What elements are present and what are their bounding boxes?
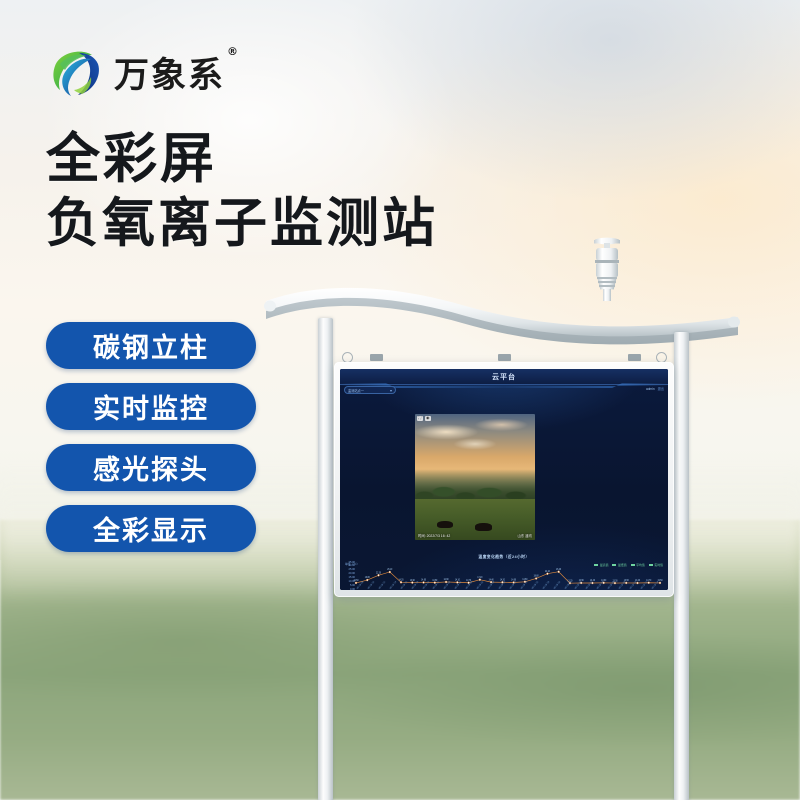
svg-text:14.20: 14.20	[399, 579, 405, 581]
monitoring-station-unit: 云平台 监测站点一 ▾ admin 退出 温度 ℃26.32PM10 ug/m³…	[262, 232, 742, 772]
svg-text:13.50: 13.50	[354, 580, 360, 582]
brand-logo: 万象系 ®	[48, 44, 225, 100]
svg-text:26.40: 26.40	[556, 568, 562, 570]
headline-line-1: 全彩屏	[46, 126, 516, 192]
station-select-value: 监测站点一	[348, 388, 364, 393]
svg-text:22.30: 22.30	[376, 572, 382, 574]
brand-name: 万象系 ®	[114, 47, 225, 98]
camera-cow-2	[475, 523, 492, 531]
feature-badge-2: 感光探头	[46, 444, 256, 491]
dashboard-header: 云平台	[340, 369, 668, 385]
chart-x-axis: 06-28 0806-28 1006-28 1206-28 1406-28 16…	[356, 588, 662, 591]
right-steel-pole	[674, 332, 689, 800]
left-steel-pole	[318, 318, 333, 800]
dashboard-subbar: 监测站点一 ▾ admin 退出	[340, 385, 668, 395]
expand-icon[interactable]: ⛶	[417, 416, 423, 422]
user-name: admin	[646, 387, 655, 391]
camera-icon[interactable]: ◉	[425, 416, 431, 422]
chart-plot-area: 35.0030.0025.0020.0015.0010.005.000.00 1…	[344, 562, 664, 591]
display-cabinet: 云平台 监测站点一 ▾ admin 退出 温度 ℃26.32PM10 ug/m³…	[334, 362, 674, 597]
svg-text:16.80: 16.80	[365, 577, 371, 579]
camera-column: ⛶ ◉ 时间: 2022/7/3 16: 42 山东 潍坊	[415, 414, 535, 540]
chart-title: 温度变化趋势（近24小时）	[344, 555, 664, 560]
globe-swirl-logo-icon	[48, 44, 104, 100]
dashboard-screen[interactable]: 云平台 监测站点一 ▾ admin 退出 温度 ℃26.32PM10 ug/m³…	[340, 369, 668, 590]
dashboard-title: 云平台	[492, 372, 516, 382]
feature-badge-list: 碳钢立柱 实时监控 感光探头 全彩显示	[46, 322, 256, 552]
product-marketing-image: 万象系 ® 全彩屏 负氧离子监测站 碳钢立柱 实时监控 感光探头 全彩显示	[0, 0, 800, 800]
user-area[interactable]: admin 退出	[646, 386, 664, 391]
svg-text:18.60: 18.60	[534, 575, 540, 577]
logout-link[interactable]: 退出	[658, 386, 664, 391]
camera-controls[interactable]: ⛶ ◉	[417, 416, 431, 422]
station-select[interactable]: 监测站点一 ▾	[344, 386, 396, 394]
camera-live-feed[interactable]: ⛶ ◉ 时间: 2022/7/3 16: 42 山东 潍坊	[415, 414, 535, 540]
svg-text:13.90: 13.90	[410, 579, 416, 581]
trademark-symbol: ®	[227, 45, 240, 58]
feature-badge-0: 碳钢立柱	[46, 322, 256, 369]
camera-timestamp: 时间: 2022/7/3 16: 42	[418, 533, 450, 538]
feature-badge-3: 全彩显示	[46, 505, 256, 552]
svg-text:26.10: 26.10	[387, 569, 393, 571]
trend-chart: 温度变化趋势（近24小时） 单位（℃） 最高值最低值平均值实时值 35.0030…	[340, 554, 668, 591]
camera-sky	[415, 414, 535, 474]
chevron-down-icon: ▾	[390, 388, 392, 393]
feature-badge-1: 实时监控	[46, 383, 256, 430]
camera-location: 山东 潍坊	[517, 533, 532, 538]
camera-cow-1	[437, 521, 453, 528]
svg-text:24.10: 24.10	[545, 570, 551, 572]
